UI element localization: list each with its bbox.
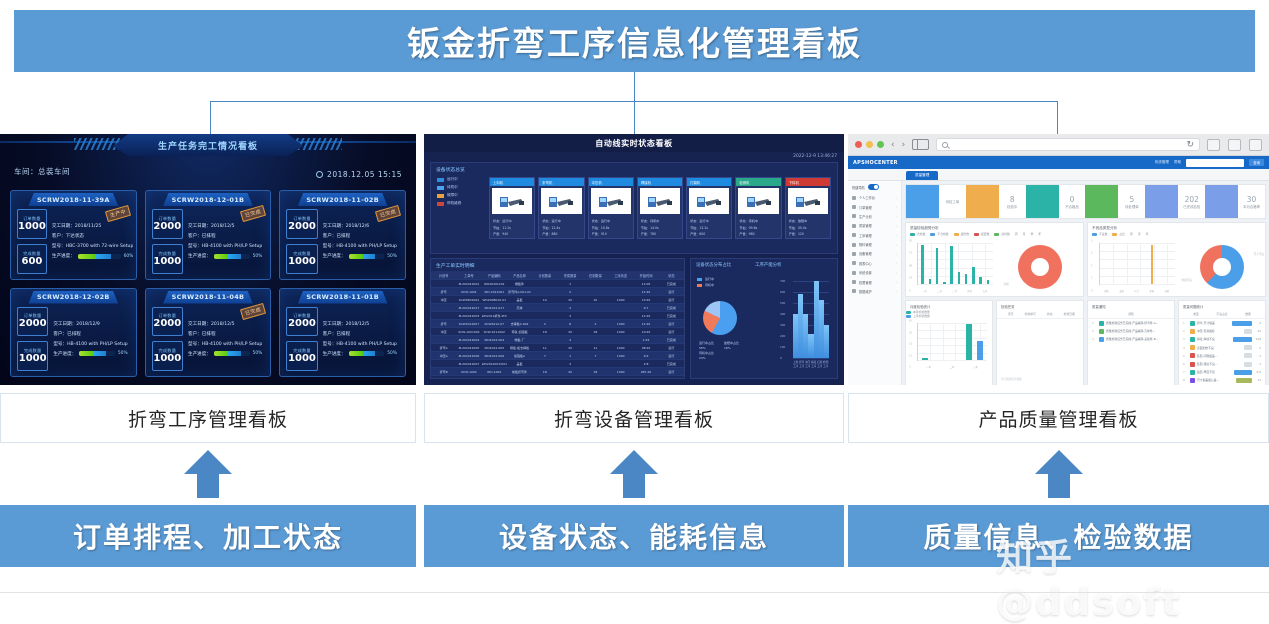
row-index: 2 bbox=[1092, 329, 1096, 333]
bar bbox=[936, 248, 939, 284]
kpi-value: 30 bbox=[1247, 195, 1257, 204]
table-row[interactable]: PL202012004WO2012-004端板-厂41:45已完成 bbox=[431, 336, 684, 344]
table-header-cell: 计划数量 bbox=[532, 271, 557, 280]
table-cell: 9:9 bbox=[633, 352, 658, 360]
machine-cycle: 节拍：14.0s bbox=[641, 225, 679, 230]
legend-item: 运行中 bbox=[437, 177, 461, 182]
chart-legend-item[interactable]: 不良数 bbox=[1092, 232, 1107, 236]
list-item[interactable]: 6装配-错位不良...1 bbox=[1179, 360, 1265, 368]
table-cell: 8 bbox=[557, 320, 582, 328]
table-cell: 7 bbox=[532, 352, 557, 360]
order-card[interactable]: SCRW2018-12-01B已完成订单数量2000完成数量1000交工日期：2… bbox=[145, 190, 272, 280]
kpi-label: 本月合格率 bbox=[1243, 204, 1260, 209]
sidebar-toggle-row[interactable]: 快捷导航 bbox=[848, 184, 901, 193]
table-cell: 18 bbox=[532, 328, 557, 336]
chart-range-option[interactable]: 月 bbox=[1023, 232, 1026, 236]
machine-card[interactable]: 检测机状态：待机中节拍：09.6s产量：980 bbox=[735, 177, 781, 239]
sidebar-toggle-label: 快捷导航 bbox=[852, 185, 865, 190]
sidebar-item-icon bbox=[852, 233, 856, 237]
tabs-icon[interactable] bbox=[1249, 139, 1262, 151]
machine-image bbox=[492, 188, 532, 214]
table-cell: 运行 bbox=[659, 296, 684, 304]
table-row[interactable]: 冲压SCW0801002WO2008010-01盖板102010100013:2… bbox=[431, 296, 684, 304]
sidebar-item-label: 工序管理 bbox=[859, 233, 893, 238]
table-cell: 运行 bbox=[659, 352, 684, 360]
window-controls[interactable] bbox=[855, 141, 884, 148]
table-header-cell: 状态 bbox=[659, 271, 684, 280]
table-row[interactable]: 冲压BSCW-1003WO-1003加强板底座122012100008:20运行 bbox=[431, 376, 684, 379]
gridline bbox=[918, 284, 993, 285]
chart-legend-item[interactable]: 总检数 bbox=[994, 232, 1009, 236]
list-item[interactable]: 3焊接-焊缝不良110 bbox=[1179, 335, 1265, 343]
table-cell: 运行 bbox=[659, 328, 684, 336]
sidebar-item-7[interactable]: 报表中心› bbox=[848, 259, 901, 268]
machine-output: 产量：800 bbox=[690, 231, 728, 236]
table-cell: 3 bbox=[557, 312, 582, 320]
kpi-tile[interactable]: 30本月合格率 bbox=[1205, 185, 1265, 218]
clock-icon bbox=[316, 171, 323, 178]
chart-range-option[interactable]: 季 bbox=[1030, 232, 1033, 236]
table-row[interactable]: 冲压APL202012006WO2012-006加强板A71710009:9运行 bbox=[431, 352, 684, 360]
chart-range-option[interactable]: 月 bbox=[1138, 232, 1141, 236]
list-item[interactable]: 4表面划伤不良2 bbox=[1179, 344, 1265, 352]
close-icon[interactable] bbox=[855, 141, 862, 148]
chart-range-option[interactable]: 周 bbox=[1015, 232, 1018, 236]
order-card-title: SCRW2018-12-02B bbox=[28, 291, 118, 304]
order-model: 型号：HB-4100 with PH/LP Setup bbox=[188, 341, 262, 347]
sidebar-item-label: 生产计划 bbox=[859, 214, 893, 219]
sidebar-item-icon bbox=[852, 271, 856, 275]
donut1-label: 合格 bbox=[1004, 282, 1009, 286]
row-name: 焊接-焊缝不良 bbox=[1197, 337, 1230, 341]
chevron-right-icon: › bbox=[896, 280, 897, 284]
machine-status: 状态：故障中 bbox=[789, 218, 827, 223]
order-qty-value: 2000 bbox=[288, 222, 316, 232]
order-model: 型号：HB-4100 with PH/LP Setup bbox=[323, 341, 397, 347]
row-value: 11 bbox=[1254, 378, 1261, 382]
chart-legend-item: 上月检验数量 bbox=[906, 314, 992, 318]
table-header-cell: 检验单号 bbox=[1021, 312, 1041, 316]
table-row[interactable]: PL202012007WO2012007/001盖板32:8已完成 bbox=[431, 360, 684, 368]
bottom-card-3[interactable]: 质量问题统计类型不良占比数量1折弯-尺寸偏差32冲压-毛刺超标103焊接-焊缝不… bbox=[1178, 300, 1266, 385]
order-model: 型号：HBC-3700 with 72-wire Setup bbox=[52, 243, 134, 249]
machine-fields: 状态：运行中节拍：10.8s产量：910 bbox=[589, 216, 633, 238]
app-menu-item-1[interactable]: 系统管理 bbox=[1155, 160, 1169, 165]
table-cell bbox=[532, 304, 557, 312]
y-tick-label: 21 bbox=[909, 343, 912, 346]
kpi-tile[interactable]: 5待处理单 bbox=[1085, 185, 1145, 218]
table-cell bbox=[507, 312, 532, 320]
order-customer: 客户：已排程 bbox=[188, 233, 262, 239]
order-qty-col: 订单数量2000完成数量1000 bbox=[17, 307, 48, 372]
status-icon bbox=[1190, 362, 1195, 367]
order-number: SCRW2018-12-01B bbox=[172, 196, 245, 204]
chart-legend-item[interactable]: 返修数 bbox=[954, 232, 969, 236]
bar bbox=[950, 246, 953, 284]
table-cell bbox=[431, 280, 456, 288]
table-cell: 1:45 bbox=[633, 336, 658, 344]
table-row[interactable]: 折弯SCW-1001WO-2011001折弯件A-001-01211:40运行 bbox=[431, 288, 684, 296]
machine-image bbox=[788, 188, 828, 214]
bottom-box-quality-text: 质量信息、检验数据 bbox=[923, 516, 1193, 556]
table-cell: 已完成 bbox=[659, 360, 684, 368]
table-cell: 导轨-加强板 bbox=[507, 328, 532, 336]
order-number: SCRW2018-12-02B bbox=[37, 293, 110, 301]
sidebar-item-10[interactable]: 数据维护› bbox=[848, 287, 901, 296]
table-cell: SCW-1003 bbox=[456, 376, 481, 379]
table-cell bbox=[532, 360, 557, 368]
sidebar-item-4[interactable]: 工序管理› bbox=[848, 231, 901, 240]
table-cell: 20 bbox=[557, 368, 582, 376]
forward-icon[interactable]: › bbox=[902, 140, 906, 150]
sidebar-item-3[interactable]: 质量管理› bbox=[848, 221, 901, 230]
table-header-cell: 在制数量 bbox=[583, 271, 608, 280]
machine-status: 状态：运行中 bbox=[690, 218, 728, 223]
table-cell: 折弯 bbox=[431, 288, 456, 296]
table-cell: 7 bbox=[583, 352, 608, 360]
order-qty-col: 订单数量2000完成数量1000 bbox=[152, 209, 183, 274]
bar bbox=[987, 280, 990, 284]
kpi-label: 不合格品 bbox=[1065, 204, 1079, 209]
table-cell: 运行 bbox=[659, 288, 684, 296]
table-header-cell: 不良占比 bbox=[1209, 312, 1235, 316]
sidebar-item-icon bbox=[852, 214, 856, 218]
machine-card[interactable]: 冲压机状态：运行中节拍：10.8s产量：910 bbox=[588, 177, 634, 239]
sidebar-toggle-switch[interactable] bbox=[868, 184, 879, 190]
bottom-box-quality: 质量信息、检验数据 bbox=[848, 505, 1269, 567]
machine-card[interactable]: 上料机状态：运行中节拍：11.2s产量：940 bbox=[489, 177, 535, 239]
empty-state-text: 暂无检验任务数据 bbox=[1001, 377, 1022, 381]
order-progress-label: 生产进度： bbox=[188, 351, 211, 357]
row-index: 8 bbox=[1183, 378, 1187, 382]
table-cell: WO-1003 bbox=[482, 376, 507, 379]
bar bbox=[943, 282, 946, 284]
table-cell: 1000 bbox=[608, 344, 633, 352]
table-header-cell: 产品名称 bbox=[507, 271, 532, 280]
table-cell: 1000 bbox=[608, 320, 633, 328]
screenshot-equipment-dashboard[interactable]: 自动线实时状态看板 2022-12-9 13:46:27 设备状态总览 运行中待… bbox=[424, 134, 844, 385]
x-tick-label: 五月 bbox=[983, 289, 988, 293]
bar bbox=[977, 341, 983, 360]
row-index: 4 bbox=[1183, 346, 1187, 350]
app-search-button[interactable]: 查询 bbox=[1249, 159, 1264, 166]
column-process-board: 生产任务完工情况看板 车间：总装车间 2018.12.05 15:15 SCRW… bbox=[0, 134, 416, 567]
row-text: 质量检验任务已完成-产品编码:折弯件-A... bbox=[1106, 321, 1170, 325]
chevron-right-icon: › bbox=[896, 289, 897, 293]
table-row[interactable]: 折弯BSCW-1002WO-1002前板折弯件1820181000087-20运… bbox=[431, 368, 684, 376]
sidebar-item-5[interactable]: 物料管理› bbox=[848, 240, 901, 249]
legend-item: 停机维修 bbox=[437, 201, 461, 206]
kpi-tile[interactable]: 0不合格品 bbox=[1026, 185, 1086, 218]
sidebar-item-1[interactable]: 订单管理› bbox=[848, 202, 901, 211]
list-item[interactable]: 2冲压-毛刺超标10 bbox=[1179, 327, 1265, 335]
pie-legend-item: 待机中 bbox=[697, 283, 714, 287]
address-bar[interactable]: ↻ bbox=[936, 138, 1200, 151]
x-tick-label: 其他 bbox=[1165, 289, 1170, 293]
chart-range-option[interactable]: 年 bbox=[1146, 232, 1149, 236]
list-item[interactable]: 2质量检验任务已完成-产品编码:壳体件... bbox=[1088, 327, 1174, 335]
chart-range-option[interactable]: 周 bbox=[1130, 232, 1133, 236]
table-cell: 18 bbox=[532, 368, 557, 376]
sidebar-item-2[interactable]: 生产计划› bbox=[848, 212, 901, 221]
share-icon[interactable] bbox=[1207, 139, 1220, 151]
table-cell: 18 bbox=[583, 328, 608, 336]
legend-swatch bbox=[437, 194, 444, 198]
order-card[interactable]: SCRW2018-11-02B已完成订单数量2000完成数量1000交工日期：2… bbox=[279, 190, 406, 280]
kpi-value: 5 bbox=[1130, 195, 1135, 204]
table-cell: SCW-1001002 bbox=[456, 328, 481, 336]
page-title: 钣金折弯工序信息化管理看板 bbox=[407, 17, 862, 65]
legend-swatch bbox=[697, 284, 702, 287]
table-cell: WO-1002 bbox=[482, 368, 507, 376]
bottom-box-process: 订单排程、加工状态 bbox=[0, 505, 416, 567]
app-main: 待检工单8检验中0不合格品5待处理单202已完成检验30本月合格率 质量检验趋势… bbox=[902, 181, 1269, 385]
sidebar-item-0[interactable]: 个人工作台› bbox=[848, 193, 901, 202]
kpi-label: 待检工单 bbox=[946, 199, 960, 204]
machine-name: 冲压机 bbox=[592, 180, 602, 185]
kpi-tile[interactable]: 202已完成检验 bbox=[1145, 185, 1205, 218]
machine-card[interactable]: 焊接机状态：待机中节拍：14.0s产量：760 bbox=[637, 177, 683, 239]
sidebar-item-9[interactable]: 权限管理› bbox=[848, 277, 901, 286]
order-number: SCRW2018-11-39A bbox=[37, 196, 110, 204]
table-row[interactable]: 折弯SCW2012007SCW2012-07支撑板A-002282100011:… bbox=[431, 320, 684, 328]
legend-label: 运行中 bbox=[705, 277, 714, 281]
dash1-datetime-wrap: 2018.12.05 15:15 bbox=[316, 166, 402, 182]
kpi-tile[interactable]: 待检工单 bbox=[906, 185, 966, 218]
browser-actions bbox=[1207, 139, 1262, 151]
order-qty-col: 订单数量2000完成数量1000 bbox=[286, 307, 317, 372]
table-cell: 折弯B bbox=[431, 368, 456, 376]
table-cell bbox=[608, 304, 633, 312]
connector-branch-right bbox=[1057, 101, 1058, 134]
order-card[interactable]: SCRW2018-11-39A生产中订单数量1000完成数量600交工日期：20… bbox=[10, 190, 137, 280]
machine-image bbox=[591, 188, 631, 214]
table-cell: 侧板-板支撑板 bbox=[507, 344, 532, 352]
legend-label: 待机中 bbox=[705, 283, 714, 287]
list-item[interactable]: 7镀层-厚度不足0.0 bbox=[1179, 368, 1265, 376]
legend-swatch bbox=[930, 233, 935, 236]
defect-bar-chart: 划伤变形尺寸毛刺其他32210 bbox=[1091, 241, 1177, 293]
defect-donut: 外观不良 尺寸不良 bbox=[1180, 238, 1266, 296]
range-label: 年 bbox=[1146, 232, 1149, 236]
table-header-cell: 检验日期 bbox=[1060, 312, 1080, 316]
sidebar-toggle-icon[interactable] bbox=[912, 139, 929, 150]
reload-icon[interactable]: ↻ bbox=[1186, 140, 1194, 150]
order-progress-bar bbox=[349, 254, 385, 259]
tab-quality[interactable]: 质量管理 bbox=[906, 171, 938, 180]
chart-legend-item[interactable]: 报废数 bbox=[974, 232, 989, 236]
y-tick-label: 95 bbox=[909, 240, 912, 243]
app-menu-item-2[interactable]: 帮助 bbox=[1174, 160, 1181, 165]
pie-caption-text: 待机中占比 bbox=[699, 351, 714, 355]
table-header-cell: 工序状态 bbox=[608, 271, 633, 280]
pie-caption-text: 24% bbox=[699, 356, 714, 360]
table-row[interactable]: 冲压SCW-1001002SCW-1011002导轨-加强板1820181000… bbox=[431, 328, 684, 336]
bottom-card-0[interactable]: 月度检验统计本月检验数量上月检验数量一季二季三季423221110 bbox=[905, 300, 993, 385]
chart-legend-item[interactable]: 合格数 bbox=[910, 232, 925, 236]
dash2-analysis-titles: 设备状态分布占比 工序产能分析 bbox=[691, 259, 837, 268]
minimize-icon[interactable] bbox=[866, 141, 873, 148]
order-progress-pct: 50% bbox=[387, 351, 397, 356]
app-header-bar: APSHOCENTER 系统管理 帮助 查询 bbox=[848, 156, 1269, 169]
bottom-card-1[interactable]: 检验任务序号检验单号状态检验日期暂无检验任务数据 bbox=[996, 300, 1084, 385]
chart-legend-item[interactable]: 占比 bbox=[1112, 232, 1125, 236]
row-index: 3 bbox=[1092, 337, 1096, 341]
machine-status: 状态：运行中 bbox=[493, 218, 531, 223]
table-row[interactable]: 折弯APL202012005WO2012-005侧板-板支撑板112011100… bbox=[431, 344, 684, 352]
y-tick-label: 42 bbox=[909, 320, 912, 323]
chart-legend-item[interactable]: 不合格数 bbox=[930, 232, 948, 236]
donut2-label-right: 尺寸不良 bbox=[1254, 252, 1264, 256]
table-cell bbox=[431, 312, 456, 320]
machine-image bbox=[738, 188, 778, 214]
bottom-card-table-head: 类型不良占比数量 bbox=[1179, 310, 1265, 319]
machine-image bbox=[689, 188, 729, 214]
chevron-right-icon: › bbox=[896, 261, 897, 265]
table-cell: 折弯件A-001-01 bbox=[507, 288, 532, 296]
table-row[interactable]: PL202012017WO2012-017壳体39:7已完成 bbox=[431, 304, 684, 312]
machine-status: 状态：待机中 bbox=[739, 218, 777, 223]
table-cell: 08:20 bbox=[633, 344, 658, 352]
legend-label: 总检数 bbox=[1001, 232, 1009, 236]
table-header-cell: 产品编码 bbox=[482, 271, 507, 280]
bar bbox=[824, 325, 829, 358]
x-tick-label: 尺寸 bbox=[1134, 289, 1139, 293]
table-cell: 08:20 bbox=[633, 376, 658, 379]
app-search-input[interactable] bbox=[1186, 159, 1244, 167]
order-progress-label: 生产进度： bbox=[323, 351, 346, 357]
order-card[interactable]: SCRW2018-12-02B订单数量2000完成数量1000交工日期：2018… bbox=[10, 288, 137, 378]
machine-name: 检测机 bbox=[739, 180, 749, 185]
chevron-right-icon: › bbox=[896, 271, 897, 275]
legend-swatch bbox=[906, 311, 911, 314]
app-sidebar: 快捷导航 个人工作台›订单管理›生产计划›质量管理›工序管理›物料管理›设备管理… bbox=[848, 181, 902, 385]
table-header-cell: 序号 bbox=[1001, 312, 1021, 316]
list-item[interactable]: 1质量检验任务已完成-产品编码:折弯件-A... bbox=[1088, 319, 1174, 327]
legend-label: 停机维修 bbox=[447, 201, 461, 206]
table-cell: WO2012007/001 bbox=[482, 360, 507, 368]
order-qty-box: 订单数量2000 bbox=[152, 209, 183, 239]
sidebar-item-icon bbox=[852, 205, 856, 209]
screenshot-process-dashboard[interactable]: 生产任务完工情况看板 车间：总装车间 2018.12.05 15:15 SCRW… bbox=[0, 134, 416, 385]
list-item[interactable]: 1折弯-尺寸偏差3 bbox=[1179, 319, 1265, 327]
row-text: 质量检验任务已完成-产品编码:壳体件... bbox=[1106, 329, 1170, 333]
table-cell: SCW0801002 bbox=[456, 296, 481, 304]
order-qty-box: 订单数量2000 bbox=[17, 307, 48, 337]
bar bbox=[921, 245, 924, 284]
list-item[interactable]: 3质量检验任务已完成-产品编码:盖板件-B... bbox=[1088, 335, 1174, 343]
kpi-icon bbox=[1085, 185, 1118, 218]
y-tick-label: 400 bbox=[780, 312, 785, 316]
table-cell: 端板件 bbox=[507, 280, 532, 288]
status-icon bbox=[1099, 321, 1104, 326]
machine-card[interactable]: 折弯机状态：运行中节拍：12.4s产量：880 bbox=[538, 177, 584, 239]
order-qty-value: 2000 bbox=[153, 222, 181, 232]
row-progress-bar bbox=[1244, 329, 1252, 334]
status-icon bbox=[1190, 345, 1195, 350]
machine-status: 状态：待机中 bbox=[641, 218, 679, 223]
machine-name: 打磨机 bbox=[690, 180, 700, 185]
machine-output: 产量：940 bbox=[493, 231, 531, 236]
card-defect-analysis: 不良品类型分析 不良数占比周月年 划伤变形尺寸毛刺其他32210 外观不良 尺寸… bbox=[1087, 222, 1266, 297]
kpi-label: 待处理单 bbox=[1125, 204, 1139, 209]
bottom-cards-row: 月度检验统计本月检验数量上月检验数量一季二季三季423221110检验任务序号检… bbox=[905, 300, 1266, 385]
sidebar-item-label: 系统设置 bbox=[859, 270, 893, 275]
row-progress-bar bbox=[1244, 362, 1252, 367]
table-row[interactable]: PL202012001WO20201201端板件111:05已完成 bbox=[431, 280, 684, 288]
order-card[interactable]: SCRW2018-11-04B已完成订单数量2000完成数量1000交工日期：2… bbox=[145, 288, 272, 378]
machine-output: 产量：880 bbox=[542, 231, 580, 236]
table-cell: 12 bbox=[583, 376, 608, 379]
range-label: 年 bbox=[1038, 232, 1041, 236]
table-row[interactable]: PL202012003WO2012机件-PH/LP311:20已完成 bbox=[431, 312, 684, 320]
order-done-value: 1000 bbox=[153, 354, 181, 364]
sidebar-item-8[interactable]: 系统设置› bbox=[848, 268, 901, 277]
order-card[interactable]: SCRW2018-11-01B订单数量2000完成数量1000交工日期：2018… bbox=[279, 288, 406, 378]
table-cell: SCW-1001 bbox=[456, 288, 481, 296]
list-item[interactable]: 5装配-间隙超差...1 bbox=[1179, 352, 1265, 360]
table-cell: 1000 bbox=[608, 296, 633, 304]
machine-fields: 状态：运行中节拍：12.4s产量：880 bbox=[539, 216, 583, 238]
maximize-icon[interactable] bbox=[877, 141, 884, 148]
legend-swatch bbox=[994, 233, 999, 236]
table-cell: PL202012005 bbox=[456, 344, 481, 352]
bottom-card-table-head: 序号检验单号状态检验日期 bbox=[997, 310, 1083, 319]
back-icon[interactable]: ‹ bbox=[891, 140, 895, 150]
order-detail-col: 交工日期：2018/12/5客户：已排程型号：HB-4100 with PH/L… bbox=[188, 209, 264, 274]
order-due-date: 交工日期：2018/12/6 bbox=[323, 223, 397, 229]
table-cell: PL202012006 bbox=[456, 352, 481, 360]
kpi-tile[interactable]: 8检验中 bbox=[966, 185, 1026, 218]
order-qty-box: 订单数量1000 bbox=[17, 209, 47, 239]
caption-quality-text: 产品质量管理看板 bbox=[978, 405, 1138, 432]
dash2-bar-chart: 0100200300400500600700 上料工序折弯工序冲压工序焊接工序打… bbox=[779, 281, 829, 358]
sidebar-item-label: 报表中心 bbox=[859, 261, 893, 266]
bottom-card-2[interactable]: 质量通知通知1质量检验任务已完成-产品编码:折弯件-A...2质量检验任务已完成… bbox=[1087, 300, 1175, 385]
up-arrow-icon bbox=[1031, 448, 1087, 500]
y-tick-label: 500 bbox=[780, 301, 785, 305]
legend-item: 待机中 bbox=[437, 185, 461, 190]
table-cell: 11:05 bbox=[633, 280, 658, 288]
machine-card[interactable]: 打磨机状态：运行中节拍：13.2s产量：800 bbox=[686, 177, 732, 239]
row-progress-bar bbox=[1244, 345, 1252, 350]
list-item[interactable]: 8尺寸偏差超公差...11 bbox=[1179, 376, 1265, 384]
y-tick-label: 1 bbox=[1091, 277, 1092, 280]
sidebar-item-6[interactable]: 设备管理› bbox=[848, 249, 901, 258]
table-cell bbox=[532, 312, 557, 320]
table-header-cell: 工单号 bbox=[456, 271, 481, 280]
pie-caption-col: 故障中占比18% bbox=[724, 341, 739, 360]
order-qty-value: 2000 bbox=[288, 319, 316, 329]
machine-name: 下料机 bbox=[789, 180, 799, 185]
order-progress-bar bbox=[349, 351, 385, 356]
history-icon[interactable] bbox=[1228, 139, 1241, 151]
machine-header: 折弯机 bbox=[539, 178, 583, 186]
order-due-date: 交工日期：2018/12/9 bbox=[53, 321, 127, 327]
caption-equipment-text: 折弯设备管理看板 bbox=[554, 405, 714, 432]
table-cell: 运行 bbox=[659, 344, 684, 352]
table-cell: 20 bbox=[557, 344, 582, 352]
table-cell: 3 bbox=[557, 304, 582, 312]
legend-swatch bbox=[1092, 233, 1097, 236]
status-icon bbox=[1190, 337, 1195, 342]
pie-caption-text: 58% bbox=[699, 346, 714, 350]
machine-card[interactable]: 下料机状态：故障中节拍：00.0s产量：120 bbox=[785, 177, 831, 239]
chart-range-option[interactable]: 年 bbox=[1038, 232, 1041, 236]
machine-image bbox=[640, 188, 680, 214]
dash2-worklist-section[interactable]: 生产工单实时明细 计划号工单号产品编码产品名称计划数量完成数量在制数量工序状态开… bbox=[430, 258, 685, 379]
screenshot-quality-dashboard[interactable]: ‹ › ↻ APSHOCENTER 系统管理 帮助 查询 bbox=[848, 134, 1269, 385]
